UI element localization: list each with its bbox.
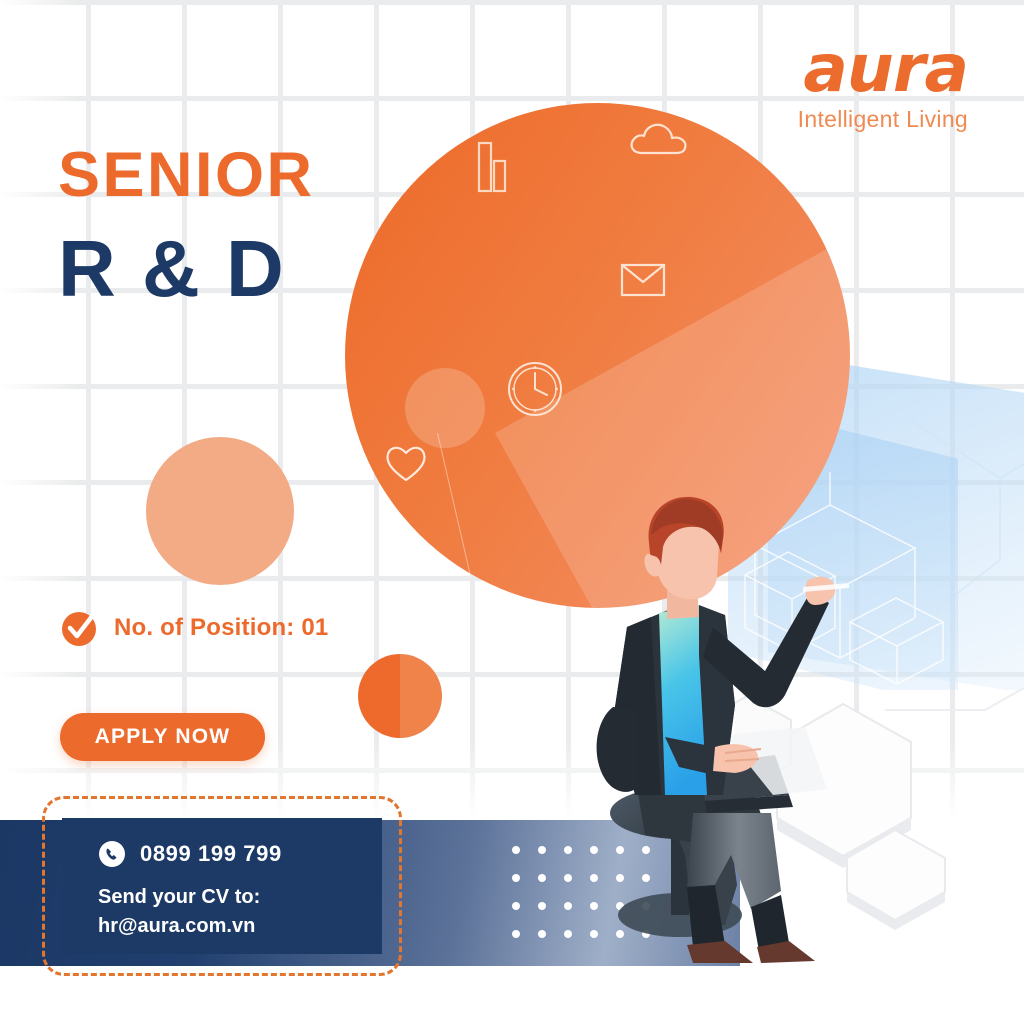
split-circle-right-half <box>400 654 442 738</box>
envelope-icon <box>620 263 666 297</box>
recruitment-poster: aura Intelligent Living SENIOR R & D No.… <box>0 0 1024 1024</box>
headline-role: R & D <box>58 229 286 309</box>
phone-icon <box>98 840 126 868</box>
cv-email[interactable]: hr@aura.com.vn <box>98 913 382 940</box>
dot <box>538 902 546 910</box>
split-circle-left-half <box>358 654 400 738</box>
bar-chart-icon <box>477 141 507 193</box>
dot <box>538 930 546 938</box>
dot <box>564 874 572 882</box>
phone-row: 0899 199 799 <box>98 840 382 868</box>
dot <box>512 902 520 910</box>
positions-label: No. of Position: 01 <box>114 614 328 642</box>
dot <box>512 846 520 854</box>
hero-circle-soft-dot <box>405 368 485 448</box>
person-illustration <box>575 495 865 965</box>
split-decor-circle <box>358 654 442 738</box>
heart-icon <box>384 443 428 483</box>
peach-decor-circle <box>146 437 294 585</box>
dot <box>538 874 546 882</box>
dot <box>564 902 572 910</box>
dot <box>512 874 520 882</box>
logo-wordmark: aura <box>798 38 968 101</box>
dot <box>538 846 546 854</box>
logo-tagline: Intelligent Living <box>798 106 968 133</box>
contact-card: 0899 199 799 Send your CV to: hr@aura.co… <box>62 818 382 954</box>
dot <box>564 846 572 854</box>
clock-icon <box>506 360 564 418</box>
phone-number[interactable]: 0899 199 799 <box>140 841 282 867</box>
headline-seniority: SENIOR <box>58 144 315 207</box>
dot <box>564 930 572 938</box>
check-circle-icon <box>60 609 98 647</box>
brand-logo: aura Intelligent Living <box>798 38 968 133</box>
dot <box>512 930 520 938</box>
positions-row: No. of Position: 01 <box>60 609 328 647</box>
cloud-icon <box>627 119 689 157</box>
cv-instruction: Send your CV to: <box>98 884 382 911</box>
apply-now-button[interactable]: APPLY NOW <box>60 713 265 761</box>
